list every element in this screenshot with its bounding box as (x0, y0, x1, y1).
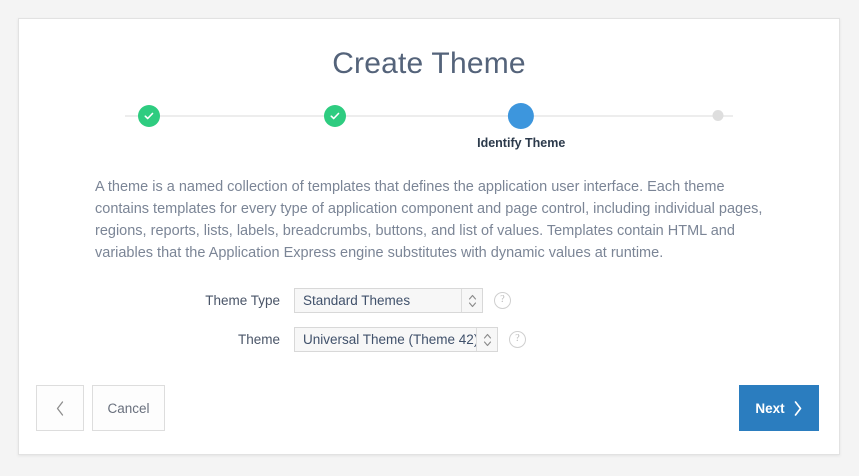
step-3-dot (508, 103, 534, 129)
wizard-progress-stepper: Identify Theme (111, 102, 747, 148)
chevron-right-icon (792, 400, 803, 417)
help-icon[interactable]: ? (509, 331, 526, 348)
form-row-theme: Theme Universal Theme (Theme 42) ? (19, 327, 839, 352)
chevron-up-down-icon[interactable] (461, 289, 482, 312)
chevron-left-icon (55, 400, 66, 417)
help-icon[interactable]: ? (494, 292, 511, 309)
step-3-label: Identify Theme (477, 136, 565, 150)
check-icon (324, 105, 346, 127)
stepper-step-2[interactable] (324, 102, 346, 134)
cancel-button-label: Cancel (107, 401, 149, 416)
step-2-dot (324, 105, 346, 127)
theme-type-value: Standard Themes (295, 289, 461, 312)
wizard-description: A theme is a named collection of templat… (95, 176, 763, 264)
chevron-up-down-icon[interactable] (476, 328, 497, 351)
stepper-connector-line (125, 115, 733, 117)
theme-select[interactable]: Universal Theme (Theme 42) (294, 327, 498, 352)
page-title: Create Theme (19, 47, 839, 80)
next-button[interactable]: Next (739, 385, 819, 431)
check-icon (138, 105, 160, 127)
stepper-step-identify-theme[interactable]: Identify Theme (477, 102, 565, 150)
wizard-footer: Cancel Next (19, 378, 839, 454)
theme-type-select[interactable]: Standard Themes (294, 288, 483, 313)
form-row-theme-type: Theme Type Standard Themes ? (19, 288, 839, 313)
step-1-dot (138, 105, 160, 127)
theme-label: Theme (19, 332, 294, 347)
theme-value: Universal Theme (Theme 42) (295, 328, 476, 351)
next-button-label: Next (755, 401, 784, 416)
theme-type-label: Theme Type (19, 293, 294, 308)
cancel-button[interactable]: Cancel (92, 385, 165, 431)
wizard-form: Theme Type Standard Themes ? Theme Unive… (19, 288, 839, 352)
stepper-step-4[interactable] (713, 102, 724, 128)
step-4-dot (713, 110, 724, 121)
back-button[interactable] (36, 385, 84, 431)
stepper-step-1[interactable] (138, 102, 160, 134)
create-theme-wizard-card: Create Theme (18, 18, 840, 455)
